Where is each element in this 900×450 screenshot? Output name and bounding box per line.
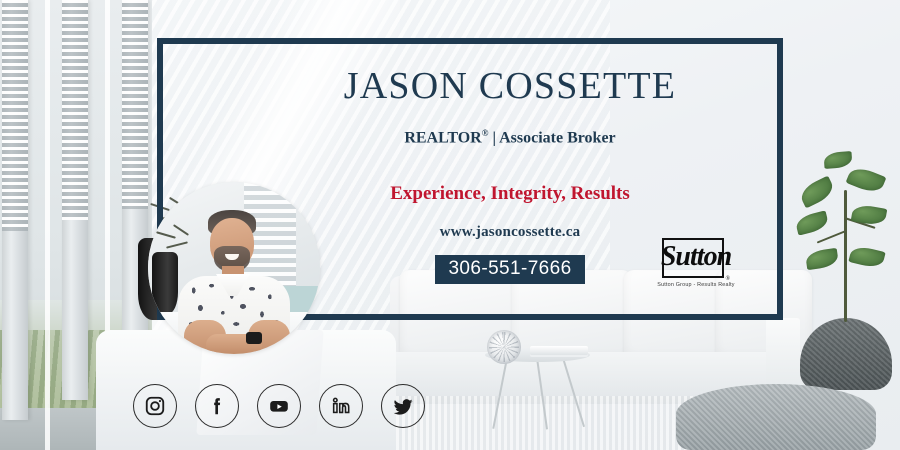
vertical-blind — [122, 0, 148, 380]
linkedin-icon[interactable] — [319, 384, 363, 428]
tagline: Experience, Integrity, Results — [390, 183, 630, 205]
instagram-icon[interactable] — [133, 384, 177, 428]
portrait-watch — [246, 332, 262, 344]
youtube-icon[interactable] — [257, 384, 301, 428]
window-mullion — [45, 0, 50, 450]
agent-title-prefix: REALTOR — [404, 129, 481, 146]
vertical-blind — [2, 0, 28, 420]
phone-badge[interactable]: 306-551-7666 — [435, 255, 584, 284]
sutton-logo: Sutton ® Sutton Group - Results Realty — [648, 238, 744, 294]
vertical-blind — [62, 0, 88, 400]
agent-title-separator: | — [488, 129, 499, 146]
facebook-icon[interactable] — [195, 384, 239, 428]
side-box — [766, 318, 800, 392]
decorative-sphere — [487, 330, 521, 364]
agent-title-suffix: Associate Broker — [499, 129, 616, 146]
plant-stem — [844, 190, 847, 322]
sutton-logo-wordmark: Sutton — [648, 241, 744, 273]
agent-name: JASON COSSETTE — [344, 64, 676, 108]
social-links — [133, 384, 425, 428]
website-link[interactable]: www.jasoncossette.ca — [440, 224, 581, 241]
sutton-logo-subtitle: Sutton Group - Results Realty — [648, 282, 744, 288]
agent-title: REALTOR® | Associate Broker — [404, 128, 615, 147]
books — [530, 346, 588, 355]
agent-portrait — [148, 182, 320, 354]
portrait-vase — [152, 252, 178, 314]
ottoman — [676, 384, 876, 450]
twitter-icon[interactable] — [381, 384, 425, 428]
